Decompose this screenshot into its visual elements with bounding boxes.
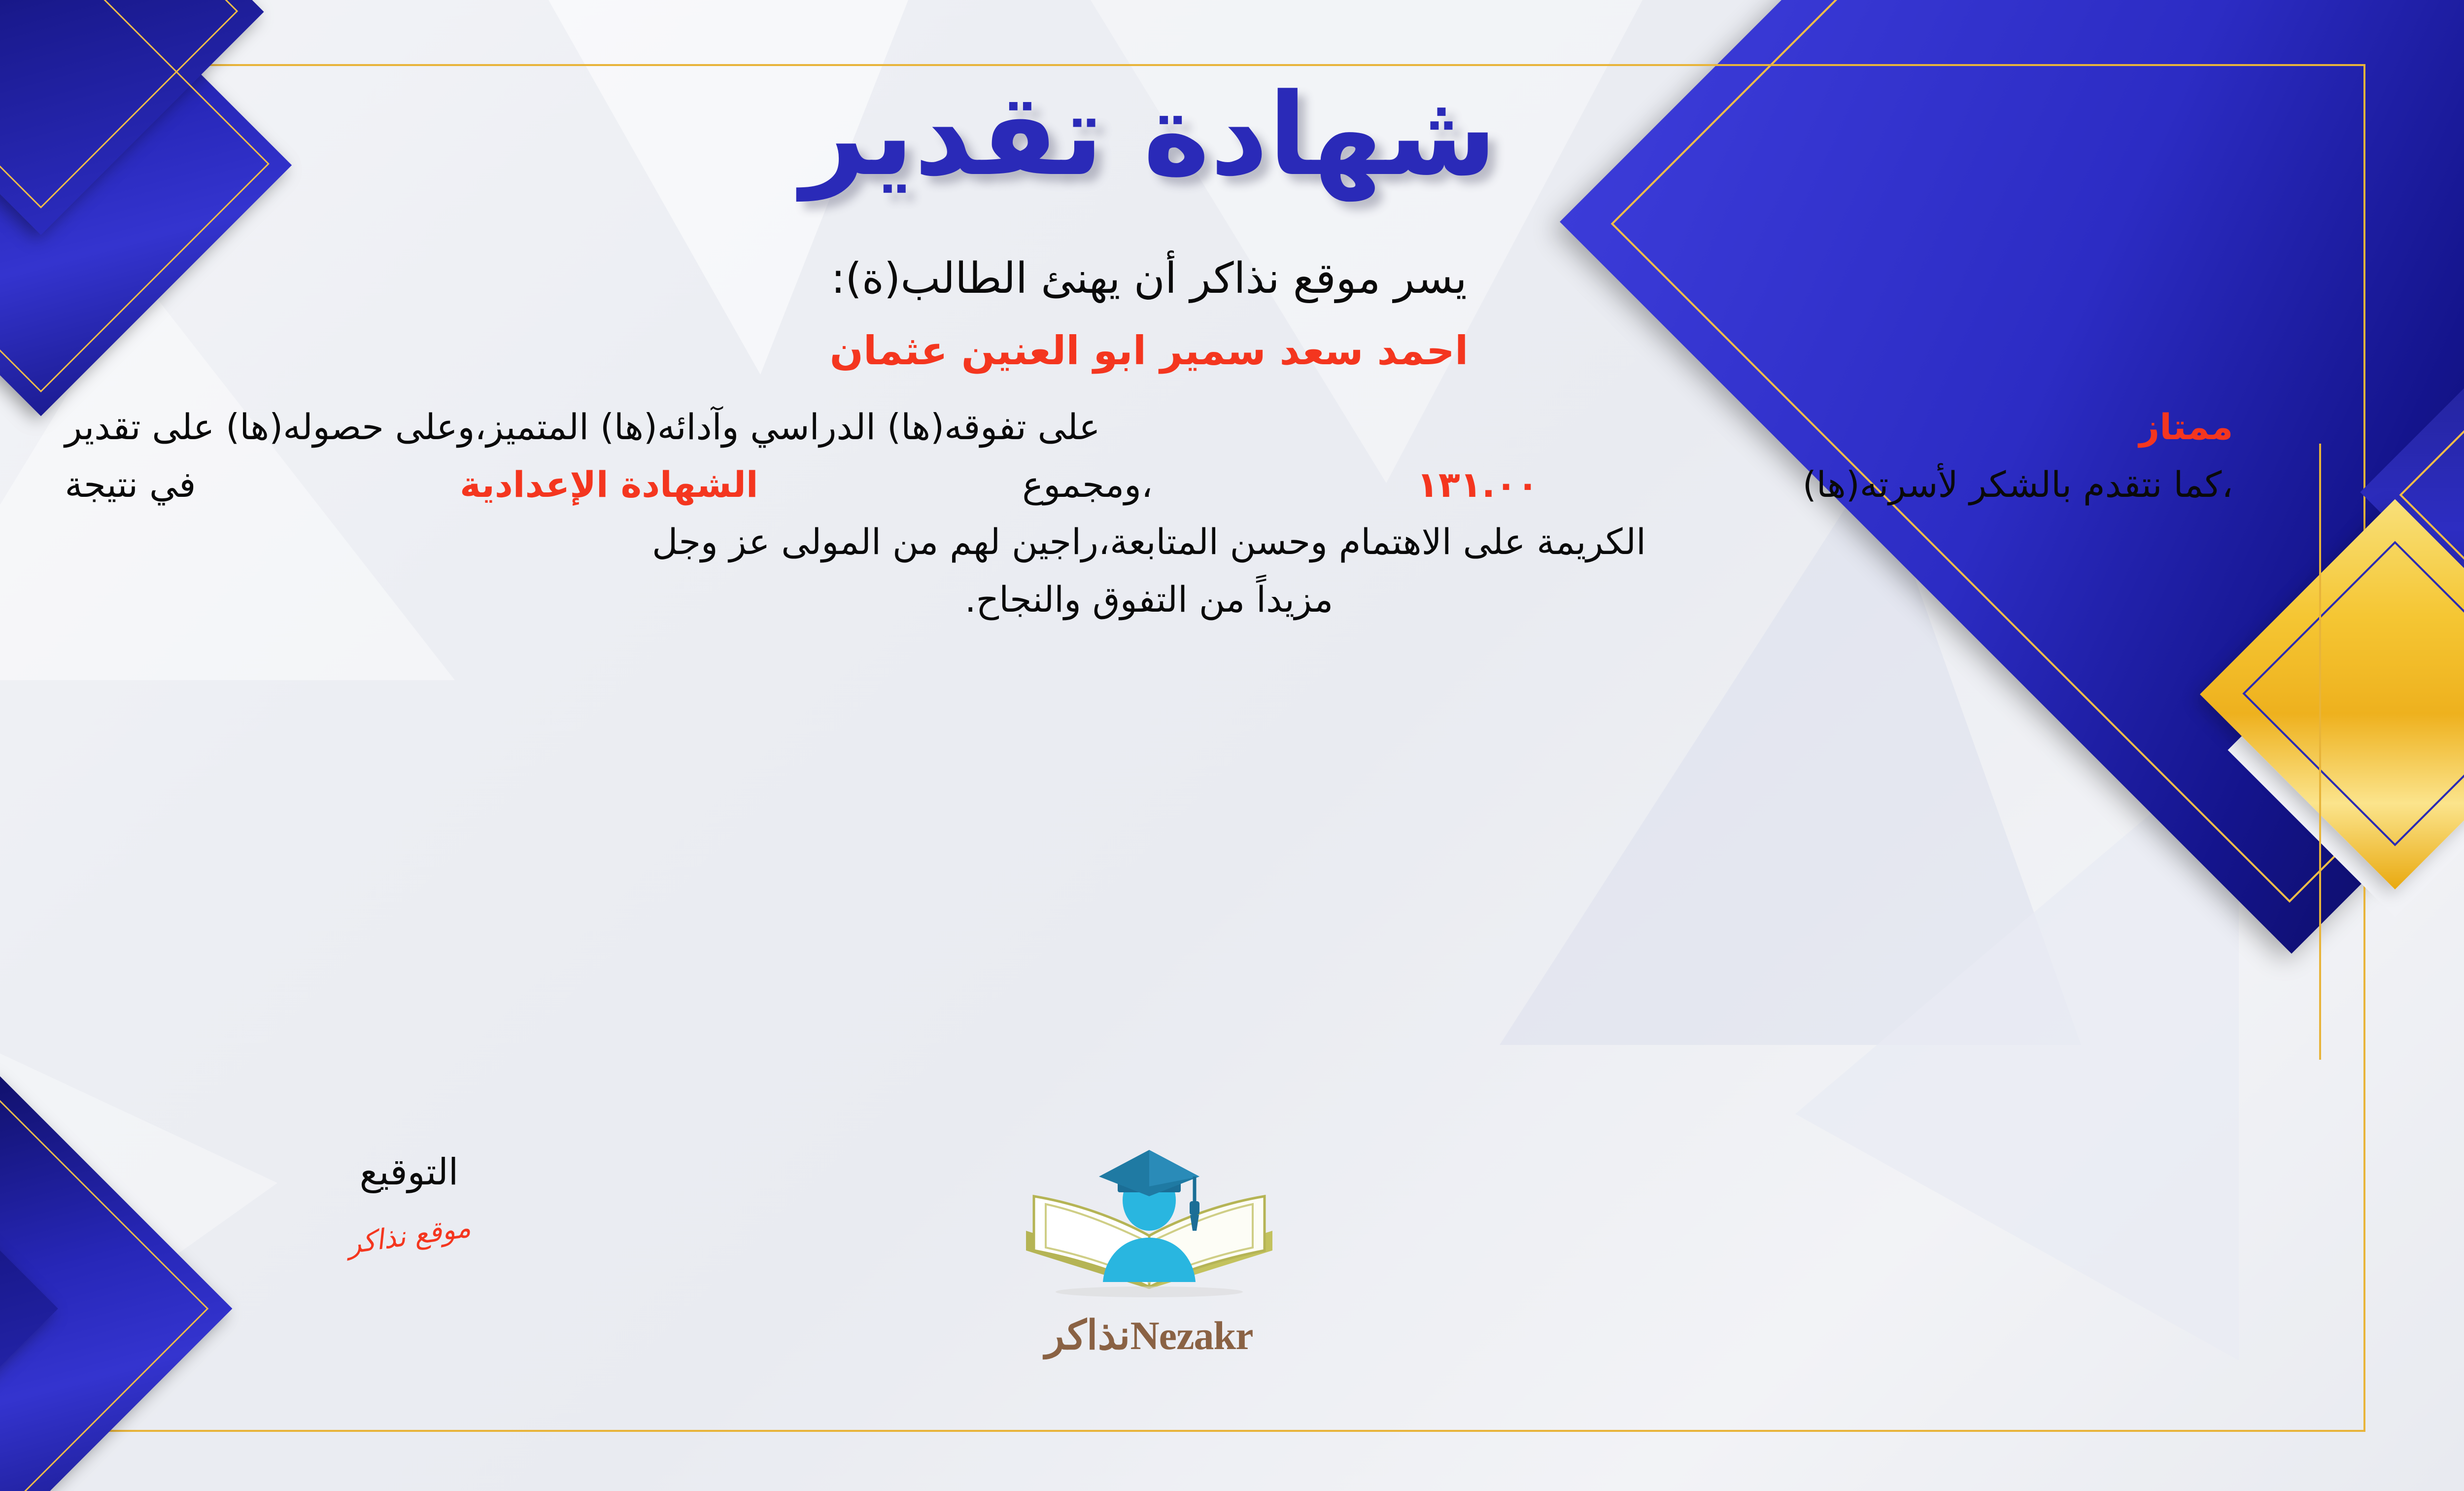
- total-score: ١٣١.٠٠: [1417, 456, 1539, 514]
- grade-value: ممتاز: [2139, 398, 2233, 456]
- citation-line-4: مزيداً من التفوق والنجاح.: [65, 571, 2233, 628]
- certificate-page: شهادة تقدير يسر موقع نذاكر أن يهنئ الطال…: [0, 0, 2464, 1491]
- citation-line-1-text: على تفوقه(ها) الدراسي وآدائه(ها) المتميز…: [65, 398, 1100, 456]
- citation-line-3: الكريمة على الاهتمام وحسن المتابعة،راجين…: [65, 513, 2233, 571]
- citation-line-1: ممتاز على تفوقه(ها) الدراسي وآدائه(ها) ا…: [65, 398, 2233, 456]
- citation-line-2-mid: ،ومجموع: [1022, 456, 1153, 514]
- citation-body: ممتاز على تفوقه(ها) الدراسي وآدائه(ها) ا…: [65, 398, 2233, 628]
- citation-line-2-tail: ،كما نتقدم بالشكر لأسرته(ها): [1803, 456, 2233, 514]
- student-name: احمد سعد سمير ابو العنين عثمان: [830, 328, 1469, 374]
- citation-line-2-head: في نتيجة: [65, 456, 196, 514]
- page-title: شهادة تقدير: [801, 79, 1497, 192]
- certificate-content: شهادة تقدير يسر موقع نذاكر أن يهنئ الطال…: [0, 0, 2464, 1491]
- citation-line-2: ،كما نتقدم بالشكر لأسرته(ها) ١٣١.٠٠ ،ومج…: [65, 456, 2233, 514]
- certificate-type: الشهادة الإعدادية: [460, 456, 758, 514]
- intro-line: يسر موقع نذاكر أن يهنئ الطالب(ة):: [831, 254, 1467, 303]
